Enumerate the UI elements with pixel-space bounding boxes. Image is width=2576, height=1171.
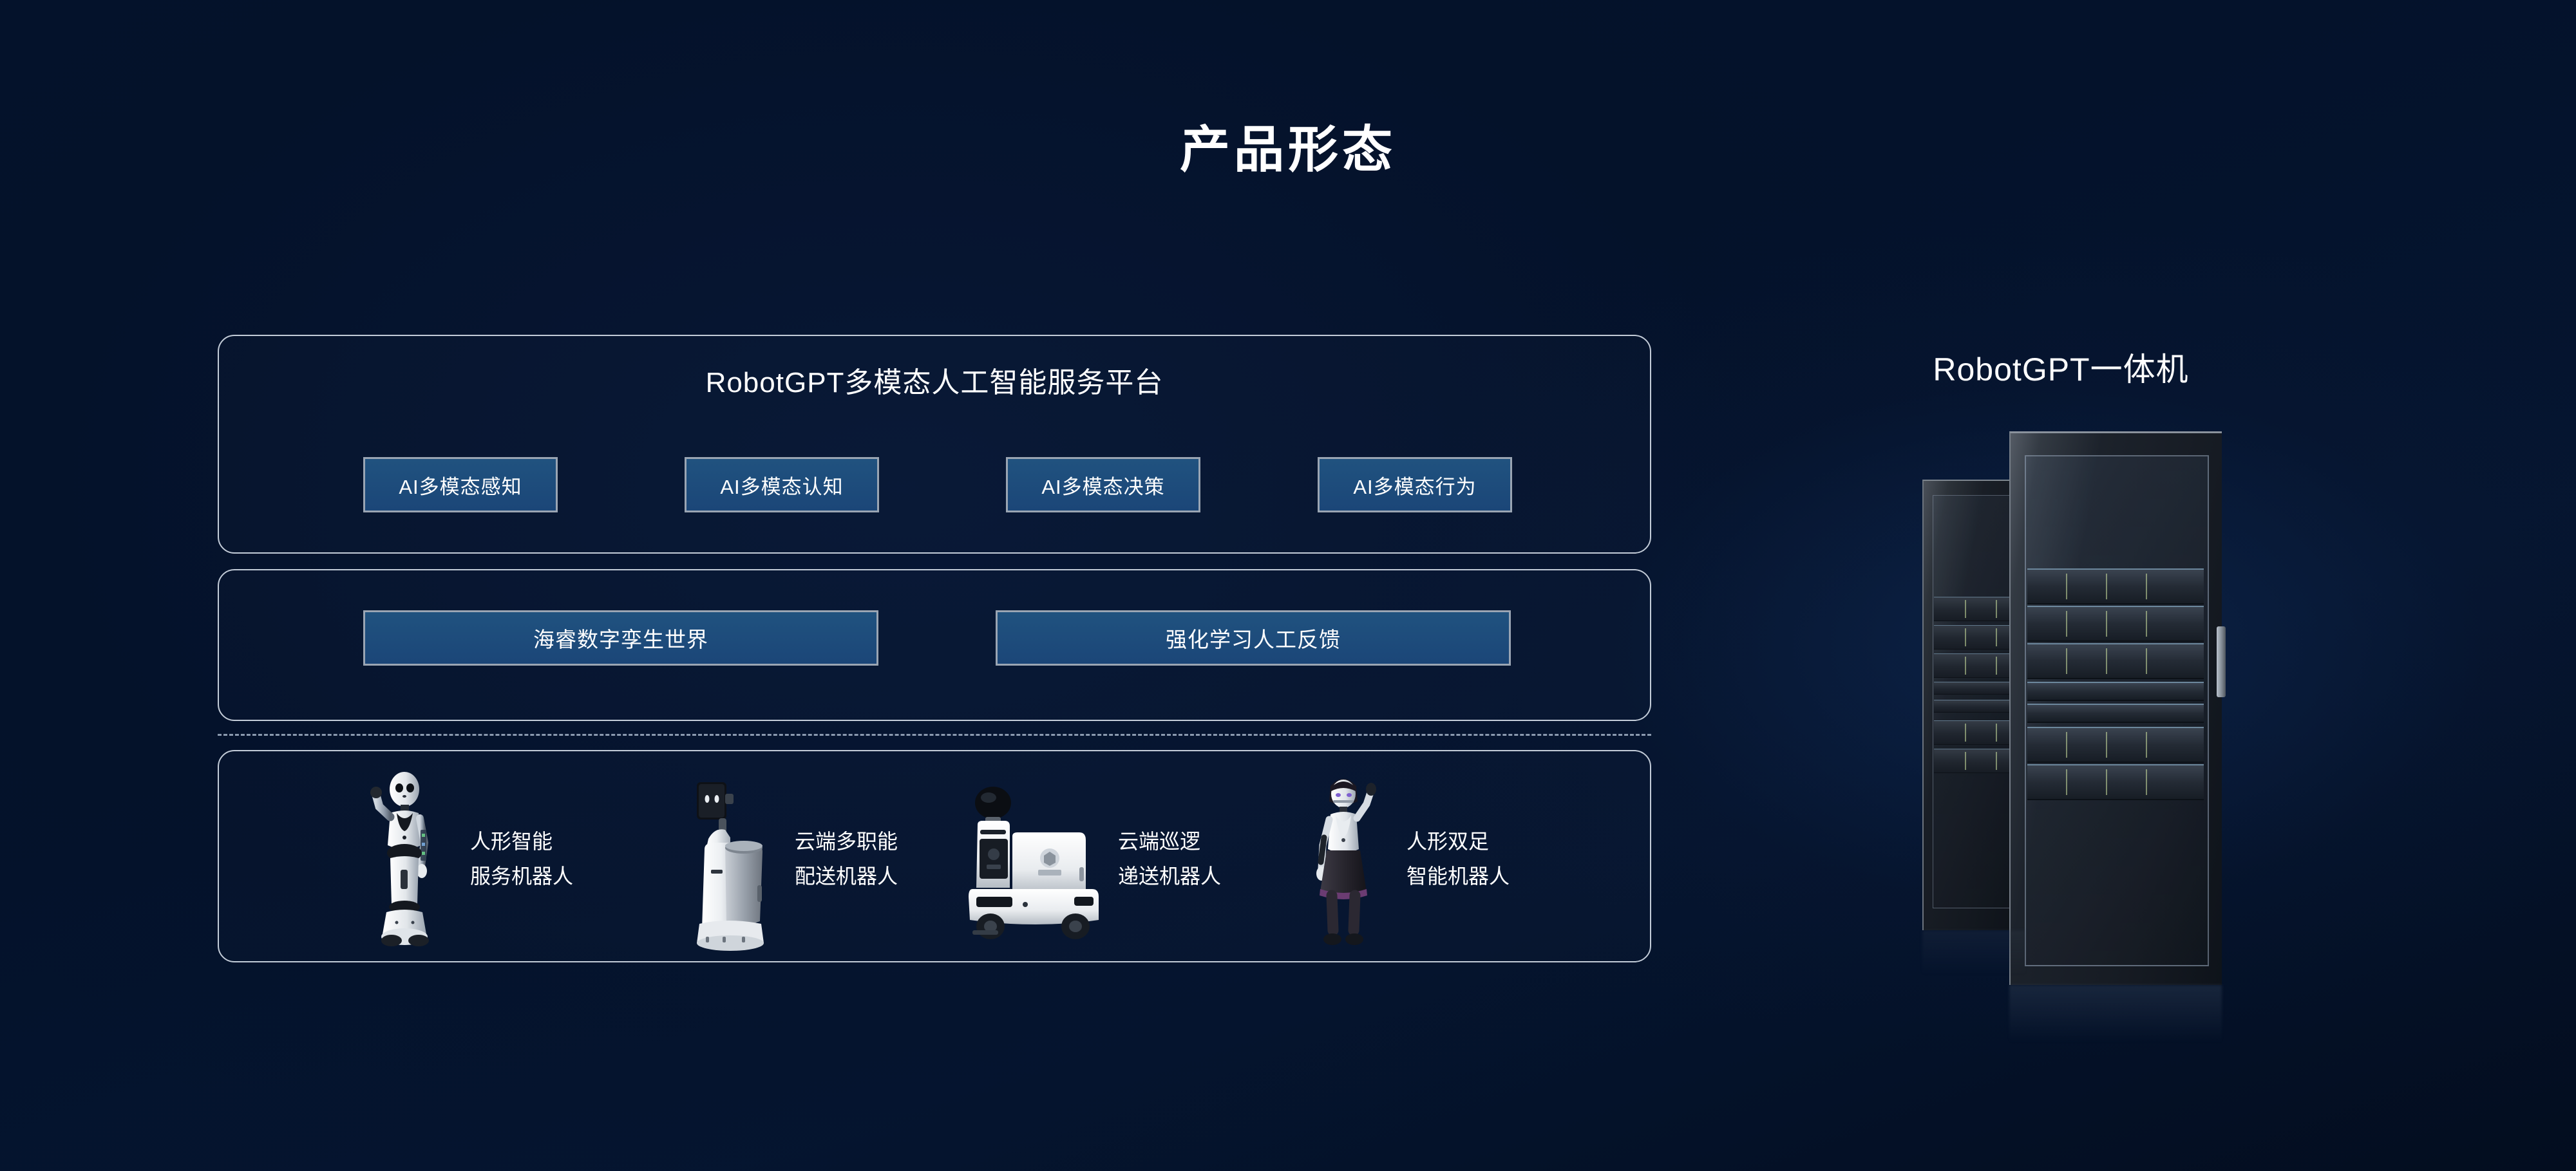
rack-slot-divider — [2066, 769, 2067, 795]
humanoid-service-robot-icon — [358, 768, 461, 951]
slide-canvas: 产品形态 RobotGPT多模态人工智能服务平台 AI多模态感知 AI多模态认知… — [0, 0, 2576, 1171]
robot-label-line1: 云端多职能 — [795, 825, 898, 859]
rack-slot-divider — [1965, 657, 1966, 674]
rack-slot-divider — [1965, 628, 1966, 646]
rack-bay — [1934, 749, 2016, 773]
capability-chip-perception[interactable]: AI多模态感知 — [363, 457, 558, 512]
rack-bay-blank — [1934, 700, 2016, 713]
rack-slot-divider — [1996, 600, 1997, 617]
robot-item-cloud-patrol[interactable]: 云端巡逻 递送机器人 — [953, 766, 1221, 953]
robot-label-line2: 递送机器人 — [1118, 859, 1221, 894]
rack-slot-divider — [2106, 648, 2107, 674]
rack-slot-divider — [1965, 600, 1966, 617]
rack-slot-divider — [2066, 732, 2067, 758]
rack-slot-divider — [2146, 611, 2147, 637]
robot-label-line2: 服务机器人 — [470, 859, 573, 894]
rack-slot-divider — [1996, 724, 1997, 741]
rack-bay — [1934, 597, 2016, 621]
rack-slot-divider — [2066, 648, 2067, 674]
rack-slot-divider — [1965, 724, 1966, 741]
rack-door-handle[interactable] — [2217, 626, 2226, 697]
robot-item-humanoid-service[interactable]: 人形智能 服务机器人 — [358, 766, 573, 953]
rack-slot-divider — [2106, 769, 2107, 795]
robot-label-line1: 人形智能 — [470, 825, 573, 859]
rack-bay — [2027, 568, 2204, 604]
rack-slot-divider — [2106, 611, 2107, 637]
rack-bay — [2027, 606, 2204, 642]
robot-label: 人形智能 服务机器人 — [470, 825, 573, 894]
engine-chip-rlhf[interactable]: 强化学习人工反馈 — [996, 610, 1511, 666]
robot-item-cloud-delivery[interactable]: 云端多职能 配送机器人 — [683, 766, 898, 953]
robot-label: 云端多职能 配送机器人 — [795, 825, 898, 894]
rack-bay-blank — [2027, 704, 2204, 723]
cloud-delivery-robot-icon — [683, 768, 786, 951]
server-rack-icon — [1900, 418, 2260, 1004]
capability-chip-behavior[interactable]: AI多模态行为 — [1318, 457, 1512, 512]
robot-label: 云端巡逻 递送机器人 — [1118, 825, 1221, 894]
rack-slot-divider — [2146, 648, 2147, 674]
rack-slot-divider — [2066, 611, 2067, 637]
humanoid-biped-robot-icon — [1294, 768, 1397, 951]
platform-panel: RobotGPT多模态人工智能服务平台 — [218, 335, 1651, 554]
server-rack-primary — [2009, 431, 2222, 985]
robot-label-line1: 云端巡逻 — [1118, 825, 1221, 859]
rack-slot-divider — [1996, 657, 1997, 674]
rack-bay-blank — [2027, 682, 2204, 701]
robot-label: 人形双足 智能机器人 — [1406, 825, 1510, 894]
rack-bay — [1934, 625, 2016, 650]
robot-label-line2: 智能机器人 — [1406, 859, 1510, 894]
rack-slot-divider — [1996, 628, 1997, 646]
rack-slot-divider — [2146, 769, 2147, 795]
platform-panel-title: RobotGPT多模态人工智能服务平台 — [219, 359, 1650, 400]
rack-slot-divider — [2066, 574, 2067, 599]
engine-chip-digital-twin[interactable]: 海睿数字孪生世界 — [363, 610, 878, 666]
rack-slot-divider — [2106, 574, 2107, 599]
capability-chip-cognition[interactable]: AI多模态认知 — [685, 457, 879, 512]
rack-reflection — [2009, 985, 2222, 1043]
rack-slot-divider — [2146, 732, 2147, 758]
appliance-heading: RobotGPT一体机 — [1823, 344, 2299, 390]
rack-bay — [2027, 727, 2204, 763]
section-divider — [218, 734, 1651, 736]
robot-label-line1: 人形双足 — [1406, 825, 1510, 859]
rack-bay-blank — [1934, 682, 2016, 695]
rack-slot-divider — [1965, 752, 1966, 769]
page-title: 产品形态 — [0, 109, 2576, 182]
cloud-patrol-robot-icon — [953, 768, 1114, 951]
rack-bay — [1934, 720, 2016, 745]
rack-slot-divider — [1996, 752, 1997, 769]
rack-bay — [2027, 764, 2204, 800]
rack-bay — [2027, 643, 2204, 679]
rack-slot-divider — [2146, 574, 2147, 599]
capability-chip-decision[interactable]: AI多模态决策 — [1006, 457, 1200, 512]
robot-label-line2: 配送机器人 — [795, 859, 898, 894]
rack-slot-divider — [2106, 732, 2107, 758]
rack-bay — [1934, 653, 2016, 678]
rack-reflection — [1922, 930, 2025, 975]
robot-item-humanoid-biped[interactable]: 人形双足 智能机器人 — [1294, 766, 1510, 953]
